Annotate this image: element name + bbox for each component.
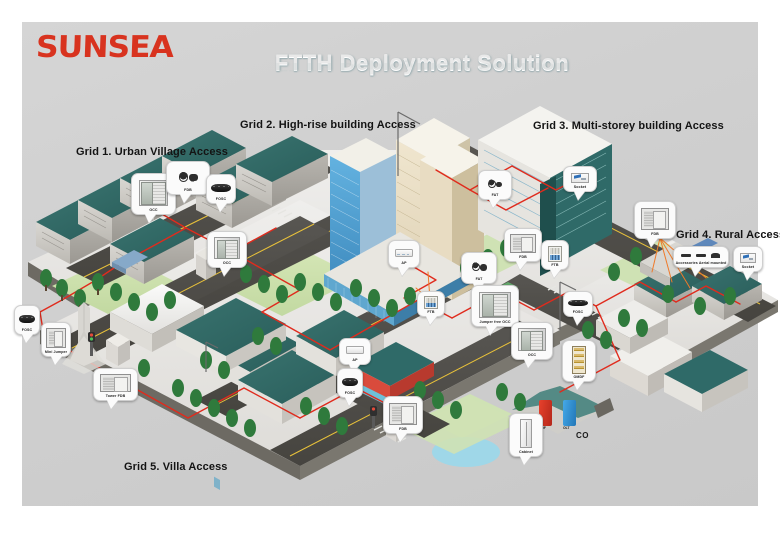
fdb-villa-fdbx-art [389,403,416,425]
callout-fdb-rural[interactable]: FDB [634,201,676,239]
occ-center-label: OCC [528,354,536,358]
olt-tank-shape [563,400,576,426]
callout-occ-center[interactable]: OCC [511,322,553,360]
callout-tail-ftb-multi [550,269,561,278]
ftb-multi-ftb-art [548,246,561,262]
fosc-left-fosc-art [19,315,36,323]
callout-fosc-road[interactable]: FOSC [563,291,593,317]
fdb-villa-label: FDB [399,428,407,432]
jumper-free-occ-device-icon [474,289,516,320]
callout-tail-ftb-highrise [426,316,437,325]
callout-tail-occ-village-2 [220,267,231,276]
occ-village-2-label: OCC [223,262,231,266]
callout-tail-cabinet-co [520,456,531,465]
callout-tail-socket-rural [743,271,754,280]
accessories-item-3 [711,253,721,258]
fdb-rural-fdbx-art [641,208,670,230]
cabinet-co-device-icon [512,417,540,450]
omdf-street-device-icon [565,344,593,375]
accessories-item-2 [696,254,706,257]
omdf-street-odf-art [572,346,587,374]
callout-tail-occ-center [524,359,535,368]
highrise-towers [324,118,484,326]
callout-occ-village-2[interactable]: OCC [207,231,247,268]
callout-mini-jumper[interactable]: Mini Jumper [41,322,71,357]
callout-tail-fosc-villa [345,397,356,406]
socket-rural-device-icon [736,250,760,265]
co-site-label: CO [576,431,589,440]
fat-multi-gear-art [485,177,504,190]
callout-omdf-street[interactable]: OMDF [562,340,596,382]
tower-fdb-fdbx-art [100,374,131,392]
ftb-multi-label: FTB [551,264,558,268]
ap-highrise-router-art [395,249,414,257]
callout-fosc-villa[interactable]: FOSC [337,368,363,398]
callout-tail-fdb-multi [516,261,527,270]
accessories-label: Accessories Aerial mounted [676,262,727,266]
fosc-villa-fosc-art [342,378,359,386]
callout-cabinet-co[interactable]: Cabinet [509,413,543,457]
accessories-device-icon [676,250,726,261]
fdb-multi-label: FDB [519,256,527,260]
callout-ftb-highrise[interactable]: FTB [417,291,445,317]
callout-tower-fdb[interactable]: Tower FDB [93,368,138,401]
mini-jumper-device-icon [44,326,68,350]
callout-tail-fat-multi [489,199,500,208]
callout-tail-accessories [691,267,702,276]
grid-label-1: Grid 1. Urban Village Access [76,146,228,158]
socket-rural-sock-art [740,253,755,263]
callout-tail-fosc-village [216,203,227,212]
callout-fdb-villa[interactable]: FDB [383,396,423,434]
callout-ap-villa[interactable]: AP [339,338,371,365]
accessories-acc-art [679,251,723,261]
jumper-free-occ-label: Jumper free OCC [479,321,510,325]
callout-accessories[interactable]: Accessories Aerial mounted [673,246,729,268]
ftb-multi-device-icon [544,244,566,263]
fdb-multi-device-icon [507,232,539,255]
callout-tail-omdf-street [573,381,584,390]
callout-tail-fdb-rural [647,238,658,247]
callout-fdb-village[interactable]: FDB [166,161,210,195]
occ-village-2-device-icon [210,235,244,261]
ap-villa-device-icon [342,342,368,358]
fdb-rural-label: FDB [651,233,659,237]
grid-label-5: Grid 5. Villa Access [124,461,228,473]
fat-highrise-device-icon [464,256,494,277]
callout-tail-tower-fdb [107,400,118,409]
grid-label-2: Grid 2. High-rise building Access [240,119,416,131]
callout-socket-rural[interactable]: Socket [733,246,763,272]
occ-center-cab-art [518,328,545,351]
callout-tail-fdb-villa [396,433,407,442]
fosc-villa-label: FOSC [345,392,355,396]
ap-villa-router-art [346,346,365,354]
fosc-road-device-icon [566,295,590,310]
callout-tail-fosc-left [22,334,33,343]
fdb-rural-device-icon [637,205,673,232]
fosc-left-label: FOSC [22,329,32,333]
callout-tail-jumper-free-occ [486,326,497,335]
grid-label-4: Grid 4. Rural Access [676,229,780,241]
socket-rural-label: Socket [742,266,754,270]
occ-village-1-cab-art [139,180,169,206]
callout-tail-socket-multi [574,191,585,200]
callout-socket-multi[interactable]: Socket [563,166,597,192]
ap-highrise-device-icon [391,244,417,261]
cabinet-co-label: Cabinet [519,451,533,455]
socket-multi-sock-art [571,173,589,183]
callout-fdb-multi[interactable]: FDB [504,228,542,262]
fosc-villa-device-icon [340,372,360,391]
callout-tail-occ-village-1 [145,214,156,223]
fosc-road-fosc-art [568,300,588,306]
callout-fosc-left[interactable]: FOSC [14,305,40,335]
grid-label-3: Grid 3. Multi-storey building Access [533,120,724,132]
fat-multi-device-icon [481,174,509,193]
ftb-highrise-label: FTB [427,311,434,315]
occ-village-1-label: OCC [149,209,157,213]
fosc-village-fosc-art [211,184,231,192]
omdf-street-label: OMDF [574,376,585,380]
fosc-road-label: FOSC [573,311,583,315]
accessories-item-1 [681,254,691,257]
fat-highrise-label: FAT [476,278,483,282]
mini-jumper-label: Mini Jumper [45,351,67,355]
callout-jumper-free-occ[interactable]: Jumper free OCC [471,285,519,327]
olt-tank-label: OLT [563,426,570,430]
fat-multi-label: FAT [492,194,499,198]
tower-fdb-device-icon [96,372,135,394]
fdb-multi-fdbx-art [510,234,536,253]
ap-villa-label: AP [352,359,357,363]
fdb-villa-device-icon [386,400,420,427]
callout-tail-fosc-road [573,316,584,325]
mini-jumper-fdbx-art [46,328,65,348]
ftb-highrise-device-icon [420,295,442,310]
fdb-village-gear-art [175,169,201,185]
fdb-village-device-icon [169,165,207,188]
fosc-village-label: FOSC [216,198,226,202]
tower-fdb-label: Tower FDB [106,395,126,399]
jumper-free-occ-cab-art [479,292,511,318]
callout-fosc-village[interactable]: FOSC [206,174,236,204]
cabinet-co-cabinet-art [520,419,532,448]
callout-ap-highrise[interactable]: AP [388,240,420,268]
callout-tail-fdb-village [180,194,191,203]
socket-multi-device-icon [566,170,594,185]
fosc-village-device-icon [209,178,233,197]
socket-multi-label: Socket [574,186,586,190]
ap-highrise-label: AP [401,262,406,266]
callout-tail-mini-jumper [51,356,62,365]
ftb-highrise-ftb-art [424,296,437,309]
isometric-city-map [0,0,780,534]
callout-fat-multi[interactable]: FAT [478,170,512,200]
callout-ftb-multi[interactable]: FTB [541,240,569,270]
fosc-left-device-icon [17,309,37,328]
callout-tail-ap-highrise [398,267,409,276]
occ-village-2-cab-art [214,237,240,259]
fdb-village-label: FDB [184,189,192,193]
occ-center-device-icon [514,326,550,353]
fat-highrise-gear-art [469,259,489,274]
poster-canvas: SUNSEA FTTH Deployment Solution FTTH Dep… [0,0,780,534]
callout-fat-highrise[interactable]: FAT [461,252,497,284]
